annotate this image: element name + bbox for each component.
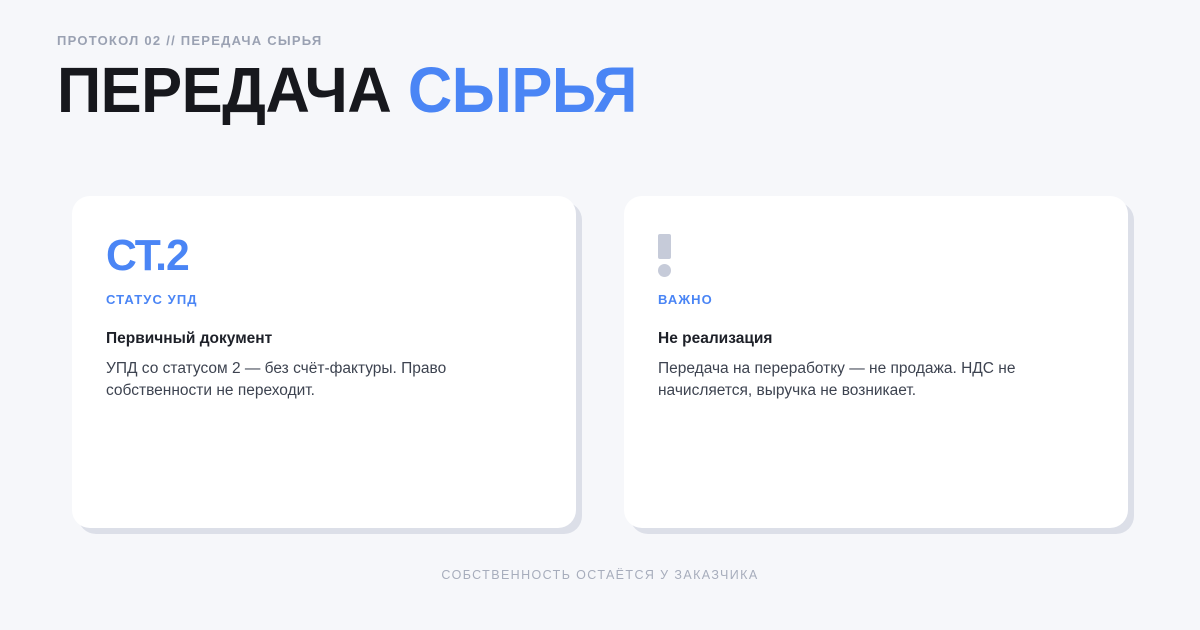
card-kicker-label: СТАТУС УПД xyxy=(106,292,542,308)
card-badge-number: СТ.2 xyxy=(106,234,529,278)
page-title: ПЕРЕДАЧА СЫРЬЯ xyxy=(57,59,1103,122)
exclamation-dot xyxy=(658,264,671,277)
card-kicker-label: ВАЖНО xyxy=(658,292,1094,308)
card-wrapper-status: СТ.2 СТАТУС УПД Первичный документ УПД с… xyxy=(72,196,576,528)
exclamation-bar xyxy=(658,234,671,259)
title-accent: СЫРЬЯ xyxy=(408,54,637,126)
card-wrapper-important: ВАЖНО Не реализация Передача на перерабо… xyxy=(624,196,1128,528)
exclamation-icon xyxy=(658,234,672,278)
card-body-text: Передача на переработку — не продажа. НД… xyxy=(658,358,1053,403)
card-heading: Не реализация xyxy=(658,329,1094,349)
card-important: ВАЖНО Не реализация Передача на перерабо… xyxy=(624,196,1128,528)
card-heading: Первичный документ xyxy=(106,329,542,349)
card-body-text: УПД со статусом 2 — без счёт-фактуры. Пр… xyxy=(106,358,501,403)
title-main: ПЕРЕДАЧА xyxy=(57,54,391,126)
eyebrow-label: ПРОТОКОЛ 02 // ПЕРЕДАЧА СЫРЬЯ xyxy=(57,33,1147,49)
card-group: СТ.2 СТАТУС УПД Первичный документ УПД с… xyxy=(72,196,1128,528)
footer-note: СОБСТВЕННОСТЬ ОСТАЁТСЯ У ЗАКАЗЧИКА xyxy=(0,568,1200,583)
card-status-upd: СТ.2 СТАТУС УПД Первичный документ УПД с… xyxy=(72,196,576,528)
slide-root: ПРОТОКОЛ 02 // ПЕРЕДАЧА СЫРЬЯ ПЕРЕДАЧА С… xyxy=(0,0,1200,630)
header: ПРОТОКОЛ 02 // ПЕРЕДАЧА СЫРЬЯ ПЕРЕДАЧА С… xyxy=(57,33,1147,164)
